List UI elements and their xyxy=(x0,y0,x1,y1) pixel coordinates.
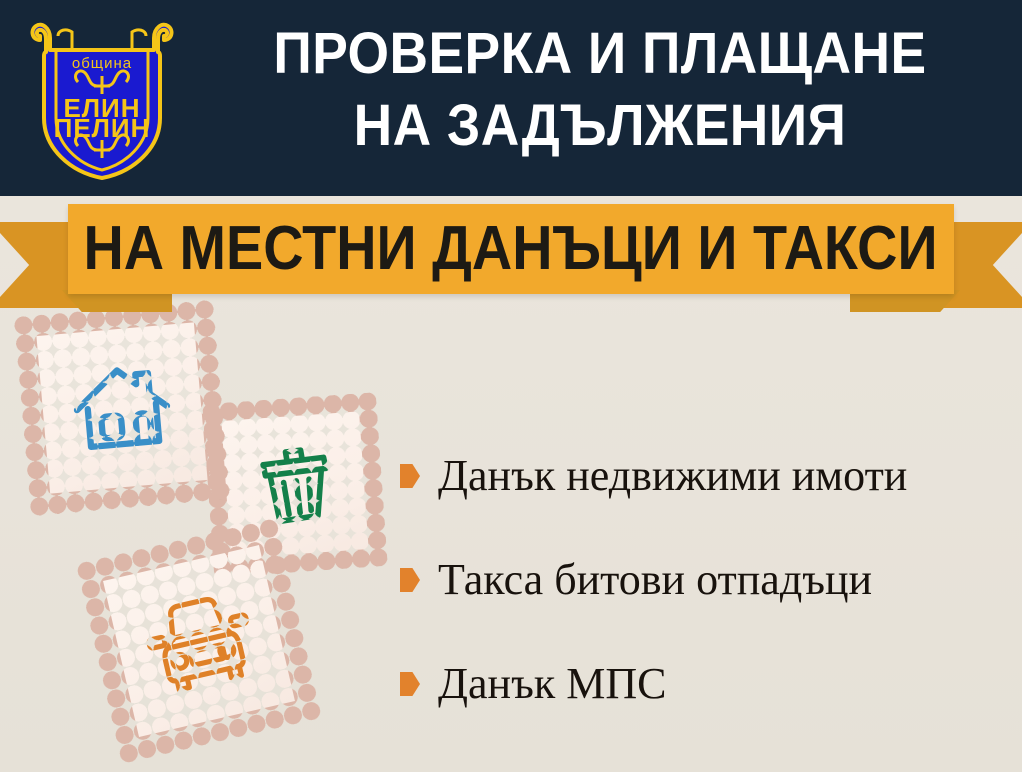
municipality-logo: община ЕЛИН ПЕЛИН xyxy=(22,6,182,188)
logo-text-obshtina: община xyxy=(72,55,132,72)
car-front-icon xyxy=(133,578,266,705)
list-item-label: Данък недвижими имоти xyxy=(438,452,907,500)
stamp-paper xyxy=(103,545,295,737)
bullet-arrow-icon xyxy=(400,464,420,488)
page-title-line-2: НА ЗАДЪЛЖЕНИЯ xyxy=(223,90,977,162)
list-item: Данък недвижими имоти xyxy=(400,424,1010,528)
poster-canvas: ПРОВЕРКА И ПЛАЩАНЕ НА ЗАДЪЛЖЕНИЯ община … xyxy=(0,0,1022,772)
house-icon xyxy=(63,349,180,466)
bullet-arrow-icon xyxy=(400,672,420,696)
page-title-line-1: ПРОВЕРКА И ПЛАЩАНЕ xyxy=(223,18,977,90)
logo-text-pelin: ПЕЛИН xyxy=(54,113,151,143)
ribbon-body: НА МЕСТНИ ДАНЪЦИ И ТАКСИ xyxy=(68,204,954,294)
stamp-card-property xyxy=(14,300,231,517)
list-item-label: Данък МПС xyxy=(438,660,666,708)
bullet-arrow-icon xyxy=(400,568,420,592)
ribbon-banner: НА МЕСТНИ ДАНЪЦИ И ТАКСИ xyxy=(0,196,1022,316)
list-item: Такса битови отпадъци xyxy=(400,528,1010,632)
tax-types-list: Данък недвижими имоти Такса битови отпад… xyxy=(400,424,1010,736)
page-title: ПРОВЕРКА И ПЛАЩАНЕ НА ЗАДЪЛЖЕНИЯ xyxy=(223,18,977,162)
list-item-label: Такса битови отпадъци xyxy=(438,556,872,604)
stamp-paper xyxy=(36,322,207,493)
list-item: Данък МПС xyxy=(400,632,1010,736)
ribbon-label: НА МЕСТНИ ДАНЪЦИ И ТАКСИ xyxy=(84,218,938,280)
